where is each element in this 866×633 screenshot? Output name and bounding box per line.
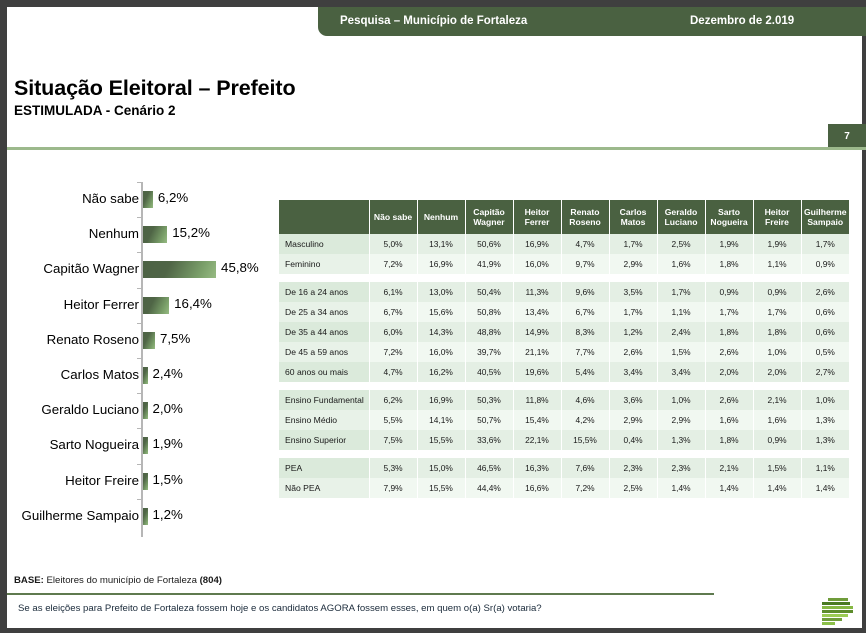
table-row-label: PEA [279,458,369,478]
table-cell: 1,6% [753,410,801,430]
chart-value-label: 1,9% [153,436,183,451]
table-cell: 9,7% [561,254,609,274]
table-cell: 13,0% [417,282,465,302]
table-cell: 1,0% [801,390,849,410]
table-cell: 0,9% [753,430,801,450]
table-cell: 1,9% [753,234,801,254]
table-cell: 6,7% [561,302,609,322]
chart-bar-row: Renato Roseno7,5% [7,323,277,358]
table-row: De 16 a 24 anos6,1%13,0%50,4%11,3%9,6%3,… [279,282,849,302]
chart-axis-tick [137,288,142,289]
table-row: De 35 a 44 anos6,0%14,3%48,8%14,9%8,3%1,… [279,322,849,342]
table-cell: 2,7% [801,362,849,382]
chart-bar [143,367,148,384]
slide-canvas: Pesquisa – Município de Fortaleza Dezemb… [0,0,866,633]
chart-category-label: Heitor Freire [65,473,139,488]
table-cell: 3,6% [609,390,657,410]
chart-bar-row: Não sabe6,2% [7,182,277,217]
table-cell: 0,9% [801,254,849,274]
chart-category-label: Não sabe [82,191,139,206]
table-cell: 1,4% [657,478,705,498]
table-cell: 1,5% [753,458,801,478]
table-cell: 13,1% [417,234,465,254]
table-cell: 16,9% [417,254,465,274]
table-cell: 15,6% [417,302,465,322]
base-label: BASE: [14,575,44,586]
table-cell: 1,4% [753,478,801,498]
chart-bar-row: Sarto Nogueira1,9% [7,428,277,463]
table-cell: 11,3% [513,282,561,302]
table-cell: 7,6% [561,458,609,478]
table-cell: 0,6% [801,302,849,322]
table-column-header: Sarto Nogueira [705,200,753,234]
chart-bar [143,473,148,490]
table-cell: 2,3% [657,458,705,478]
table-cell: 2,5% [609,478,657,498]
table-cell: 4,7% [561,234,609,254]
chart-category-label: Carlos Matos [61,367,139,382]
table-cell: 1,5% [657,342,705,362]
table-row: De 25 a 34 anos6,7%15,6%50,8%13,4%6,7%1,… [279,302,849,322]
chart-bar [143,297,169,314]
table-cell: 3,4% [609,362,657,382]
chart-value-label: 45,8% [221,260,259,275]
table-cell: 2,5% [657,234,705,254]
table-row-label: De 35 a 44 anos [279,322,369,342]
chart-axis-tick [137,358,142,359]
table-cell: 1,7% [609,302,657,322]
question-text: Se as eleições para Prefeito de Fortalez… [18,603,542,614]
chart-category-label: Capitão Wagner [43,261,139,276]
table-cell: 15,5% [561,430,609,450]
table-cell: 50,7% [465,410,513,430]
table-row-label: Ensino Superior [279,430,369,450]
table-cell: 15,4% [513,410,561,430]
table-cell: 2,9% [657,410,705,430]
spacer-cell [279,450,849,458]
chart-bar-row: Guilherme Sampaio1,2% [7,499,277,534]
table-cell: 1,7% [753,302,801,322]
table-row: Ensino Fundamental6,2%16,9%50,3%11,8%4,6… [279,390,849,410]
table-cell: 11,8% [513,390,561,410]
table-cell: 0,4% [609,430,657,450]
table-cell: 2,6% [801,282,849,302]
table-cell: 13,4% [513,302,561,322]
table-cell: 1,1% [753,254,801,274]
chart-axis-tick [137,393,142,394]
base-line: BASE: Eleitores do município de Fortalez… [14,575,222,586]
table-cell: 1,7% [609,234,657,254]
table-cell: 0,9% [753,282,801,302]
table-cell: 39,7% [465,342,513,362]
table-cell: 22,1% [513,430,561,450]
table-group-separator [279,274,849,282]
table-cell: 3,5% [609,282,657,302]
table-cell: 1,3% [801,430,849,450]
table-cell: 7,2% [369,254,417,274]
logo-bar [822,614,848,617]
table-cell: 33,6% [465,430,513,450]
table-cell: 7,2% [369,342,417,362]
table-cell: 16,0% [513,254,561,274]
table-column-header: Heitor Ferrer [513,200,561,234]
chart-value-label: 15,2% [172,225,210,240]
table-row: Masculino5,0%13,1%50,6%16,9%4,7%1,7%2,5%… [279,234,849,254]
page-subtitle: ESTIMULADA - Cenário 2 [14,103,176,118]
table-cell: 50,3% [465,390,513,410]
table-cell: 16,3% [513,458,561,478]
table-cell: 48,8% [465,322,513,342]
table-cell: 4,7% [369,362,417,382]
table-column-header: Heitor Freire [753,200,801,234]
chart-category-label: Nenhum [89,226,139,241]
table-cell: 0,6% [801,322,849,342]
chart-value-label: 6,2% [158,190,188,205]
table-cell: 14,9% [513,322,561,342]
table-cell: 1,0% [753,342,801,362]
table-corner-cell [279,200,369,234]
table-cell: 2,6% [705,390,753,410]
table-group-separator [279,382,849,390]
base-count: (804) [200,575,222,586]
table-cell: 1,3% [657,430,705,450]
page-number-badge: 7 [828,124,866,148]
table-cell: 9,6% [561,282,609,302]
table-cell: 5,0% [369,234,417,254]
logo-bar [822,622,835,625]
table-row-label: Não PEA [279,478,369,498]
table-cell: 50,8% [465,302,513,322]
table-cell: 1,4% [801,478,849,498]
table-row-label: Ensino Médio [279,410,369,430]
table-cell: 2,0% [753,362,801,382]
table-cell: 15,5% [417,478,465,498]
table-cell: 2,6% [609,342,657,362]
chart-axis-tick [137,217,142,218]
chart-bar-row: Heitor Freire1,5% [7,464,277,499]
table-row-label: Feminino [279,254,369,274]
chart-value-label: 2,0% [153,401,183,416]
logo-bar [822,606,853,609]
chart-bar [143,226,167,243]
header-date: Dezembro de 2.019 [690,15,794,27]
chart-category-label: Geraldo Luciano [41,402,139,417]
table-cell: 2,4% [657,322,705,342]
chart-bar [143,402,148,419]
table-row: De 45 a 59 anos7,2%16,0%39,7%21,1%7,7%2,… [279,342,849,362]
table-cell: 1,4% [705,478,753,498]
table-cell: 15,0% [417,458,465,478]
table-cell: 2,1% [705,458,753,478]
frame-top-edge [0,0,866,7]
table-cell: 2,9% [609,410,657,430]
table-column-header: Carlos Matos [609,200,657,234]
table-cell: 2,3% [609,458,657,478]
table-cell: 1,7% [801,234,849,254]
table-cell: 1,1% [657,302,705,322]
table-header-row: Não sabeNenhumCapitão WagnerHeitor Ferre… [279,200,849,234]
table-row: Feminino7,2%16,9%41,9%16,0%9,7%2,9%1,6%1… [279,254,849,274]
chart-category-label: Heitor Ferrer [64,297,139,312]
crosstab-table: Não sabeNenhumCapitão WagnerHeitor Ferre… [279,200,849,498]
table-cell: 0,5% [801,342,849,362]
table-cell: 1,6% [657,254,705,274]
table-cell: 2,0% [705,362,753,382]
table-row: Não PEA7,9%15,5%44,4%16,6%7,2%2,5%1,4%1,… [279,478,849,498]
chart-bar [143,261,216,278]
chart-bar [143,332,155,349]
table-cell: 50,6% [465,234,513,254]
base-text: Eleitores do município de Fortaleza [47,575,197,586]
table-row-label: De 45 a 59 anos [279,342,369,362]
table-row: PEA5,3%15,0%46,5%16,3%7,6%2,3%2,3%2,1%1,… [279,458,849,478]
table-cell: 1,1% [801,458,849,478]
table-row-label: Ensino Fundamental [279,390,369,410]
chart-category-label: Renato Roseno [47,332,139,347]
chart-bar [143,508,148,525]
chart-bar-row: Capitão Wagner45,8% [7,252,277,287]
table-cell: 1,0% [657,390,705,410]
table-cell: 7,7% [561,342,609,362]
table-cell: 14,3% [417,322,465,342]
table-cell: 16,2% [417,362,465,382]
table-cell: 50,4% [465,282,513,302]
table-cell: 2,9% [609,254,657,274]
spacer-cell [279,274,849,282]
table-cell: 1,7% [657,282,705,302]
table-cell: 19,6% [513,362,561,382]
chart-value-label: 16,4% [174,296,212,311]
table-cell: 3,4% [657,362,705,382]
table-cell: 1,8% [705,254,753,274]
chart-bar-row: Carlos Matos2,4% [7,358,277,393]
table-cell: 6,1% [369,282,417,302]
table-cell: 41,9% [465,254,513,274]
chart-axis-tick [137,464,142,465]
table-cell: 2,6% [705,342,753,362]
divider-top [7,147,866,150]
table-cell: 0,9% [705,282,753,302]
vote-intention-bar-chart: Não sabe6,2%Nenhum15,2%Capitão Wagner45,… [7,182,277,537]
table-cell: 44,4% [465,478,513,498]
table-column-header: Geraldo Luciano [657,200,705,234]
chart-bar-row: Nenhum15,2% [7,217,277,252]
company-logo-icon [818,598,854,628]
chart-axis-tick [137,323,142,324]
table-row: 60 anos ou mais4,7%16,2%40,5%19,6%5,4%3,… [279,362,849,382]
table-cell: 40,5% [465,362,513,382]
table-column-header: Renato Roseno [561,200,609,234]
table-cell: 16,9% [513,234,561,254]
table-row-label: 60 anos ou mais [279,362,369,382]
table-cell: 6,0% [369,322,417,342]
table-cell: 16,6% [513,478,561,498]
table-cell: 5,5% [369,410,417,430]
chart-bar-row: Geraldo Luciano2,0% [7,393,277,428]
table-cell: 8,3% [561,322,609,342]
table-row-label: De 25 a 34 anos [279,302,369,322]
table-cell: 4,6% [561,390,609,410]
frame-left-edge [0,0,7,633]
table-cell: 6,2% [369,390,417,410]
frame-bottom-edge [0,628,866,633]
chart-axis-tick [137,428,142,429]
chart-axis-tick [137,499,142,500]
table-cell: 1,2% [609,322,657,342]
table-row: Ensino Superior7,5%15,5%33,6%22,1%15,5%0… [279,430,849,450]
table-cell: 5,3% [369,458,417,478]
spacer-cell [279,382,849,390]
header-survey-title: Pesquisa – Município de Fortaleza [340,15,527,27]
table-cell: 2,1% [753,390,801,410]
table-cell: 14,1% [417,410,465,430]
chart-axis-tick [137,182,142,183]
table-column-header: Nenhum [417,200,465,234]
table-cell: 1,9% [705,234,753,254]
table-cell: 4,2% [561,410,609,430]
table-cell: 7,2% [561,478,609,498]
table-row-label: De 16 a 24 anos [279,282,369,302]
table-cell: 1,8% [753,322,801,342]
chart-category-label: Guilherme Sampaio [21,508,139,523]
table-cell: 7,5% [369,430,417,450]
chart-axis-tick [137,252,142,253]
chart-value-label: 1,2% [153,507,183,522]
table-cell: 7,9% [369,478,417,498]
frame-right-edge [862,0,866,633]
chart-value-label: 2,4% [153,366,183,381]
chart-value-label: 7,5% [160,331,190,346]
chart-bar [143,437,148,454]
slide-header-bar: Pesquisa – Município de Fortaleza Dezemb… [318,7,866,36]
table-cell: 21,1% [513,342,561,362]
logo-bar [828,598,848,601]
chart-bar-row: Heitor Ferrer16,4% [7,288,277,323]
table-cell: 6,7% [369,302,417,322]
divider-bottom [7,593,714,595]
crosstab-container: Não sabeNenhumCapitão WagnerHeitor Ferre… [279,200,849,498]
logo-bar [822,610,853,613]
table-column-header: Capitão Wagner [465,200,513,234]
table-cell: 46,5% [465,458,513,478]
chart-category-label: Sarto Nogueira [50,437,139,452]
table-cell: 1,6% [705,410,753,430]
table-cell: 16,9% [417,390,465,410]
chart-bar [143,191,153,208]
table-column-header: Guilherme Sampaio [801,200,849,234]
logo-bar [822,602,850,605]
table-row: Ensino Médio5,5%14,1%50,7%15,4%4,2%2,9%2… [279,410,849,430]
table-cell: 1,7% [705,302,753,322]
page-title: Situação Eleitoral – Prefeito [14,76,295,101]
table-cell: 15,5% [417,430,465,450]
chart-value-label: 1,5% [153,472,183,487]
table-cell: 16,0% [417,342,465,362]
table-body: Masculino5,0%13,1%50,6%16,9%4,7%1,7%2,5%… [279,234,849,498]
table-cell: 1,8% [705,322,753,342]
table-cell: 5,4% [561,362,609,382]
table-row-label: Masculino [279,234,369,254]
table-column-header: Não sabe [369,200,417,234]
table-group-separator [279,450,849,458]
table-cell: 1,8% [705,430,753,450]
logo-bar [822,618,842,621]
table-cell: 1,3% [801,410,849,430]
